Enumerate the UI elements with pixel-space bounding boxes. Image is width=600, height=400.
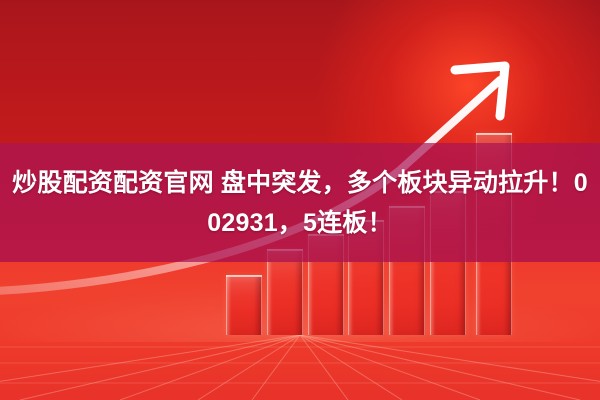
headline-text: 炒股配资配资官网 盘中突发，多个板块异动拉升！0 02931，5连板！	[0, 143, 600, 262]
headline-line-2: 02931，5连板！	[0, 203, 600, 243]
headline-line-1: 炒股配资配资官网 盘中突发，多个板块异动拉升！0	[0, 163, 600, 203]
banner-image: 炒股配资配资官网 盘中突发，多个板块异动拉升！0 02931，5连板！	[0, 0, 600, 400]
